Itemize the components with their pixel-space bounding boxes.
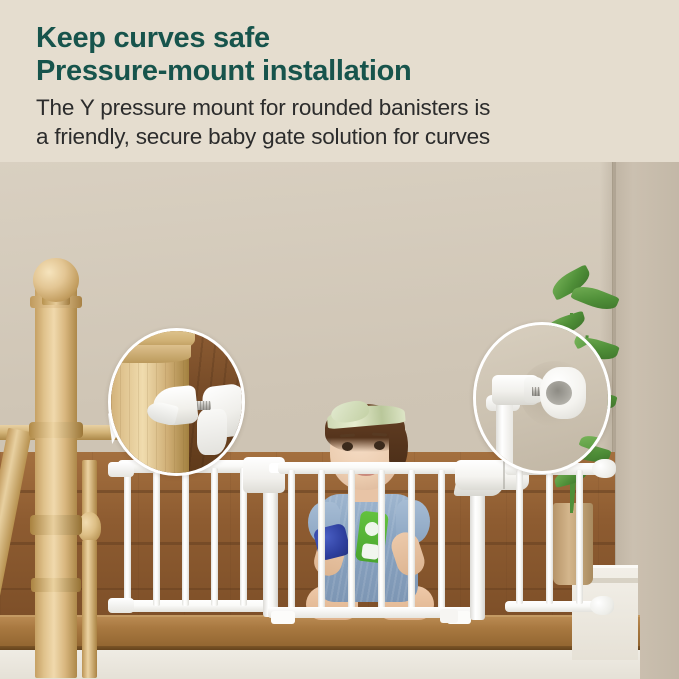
gate-vertical-post — [496, 401, 513, 474]
gate-bar — [546, 470, 553, 604]
subheadline-text: The Y pressure mount for rounded baniste… — [36, 93, 646, 151]
callout-wall-pressure-pad — [473, 322, 611, 474]
gate-bar — [182, 468, 189, 606]
headline-text: Keep curves safe Pressure-mount installa… — [36, 22, 636, 88]
gate-bar — [288, 470, 295, 612]
photo-scene — [0, 160, 679, 679]
gate-door-bottom-tab — [271, 611, 295, 624]
gate-bar — [318, 470, 325, 612]
gate-bar — [348, 470, 355, 612]
pressure-foot-bottom-right[interactable] — [590, 596, 614, 615]
pressure-foot-bottom-left[interactable] — [108, 598, 134, 613]
gate-bar — [211, 468, 218, 606]
gate-bar — [124, 468, 131, 606]
gate-bar — [408, 470, 415, 612]
banister-post-collar — [108, 345, 191, 363]
gate-bar — [153, 468, 160, 606]
callout-banister-y-mount — [108, 328, 245, 476]
wall-pad-socket — [546, 381, 572, 405]
gate-bar — [438, 470, 445, 612]
product-feature-poster: Keep curves safe Pressure-mount installa… — [0, 0, 679, 679]
gate-bar — [516, 470, 523, 604]
headline-banner: Keep curves safe Pressure-mount installa… — [0, 0, 679, 162]
gate-bar — [576, 470, 583, 604]
gate-bar — [378, 470, 385, 612]
gate-bottom-rail-left — [118, 600, 278, 612]
gate-side-bracket-arm — [197, 409, 227, 455]
gate-swing-stop — [440, 609, 458, 623]
